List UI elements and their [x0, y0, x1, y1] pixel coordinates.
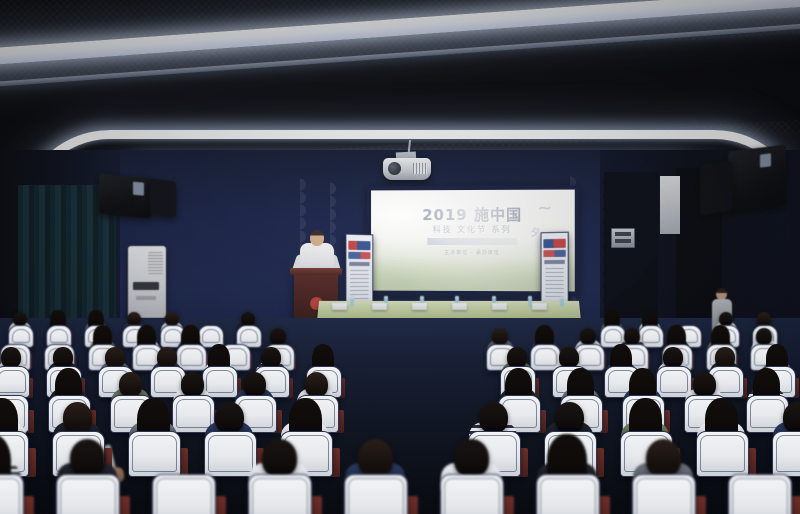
name-card [492, 303, 507, 310]
auditorium-seat[interactable] [536, 474, 600, 514]
auditorium-seat[interactable] [0, 474, 24, 514]
water-bottle [560, 296, 564, 307]
attendee-head [507, 347, 526, 368]
podium-top [290, 268, 342, 275]
attendee-head [53, 347, 72, 368]
attendee-head [757, 312, 771, 327]
speaker-badge [760, 153, 771, 167]
attendee-head [181, 372, 204, 397]
banner-headline [348, 241, 370, 250]
water-bottle [350, 296, 354, 307]
right-wall-speaker [728, 144, 786, 211]
attendee-head [243, 372, 266, 397]
auditorium-photo: 2019 施中国 科技 文化节 系列 主办单位 · 承办单位 ~ 夕 [0, 0, 800, 514]
attendee-head [580, 328, 596, 345]
slide-decoration-2: 夕 [530, 224, 540, 239]
auditorium-seat[interactable] [128, 431, 181, 477]
auditorium-seat[interactable] [204, 431, 257, 477]
attendee-head [663, 347, 682, 368]
projector-lens-icon [388, 162, 401, 175]
attendee-head [693, 372, 716, 397]
attendee-head [261, 347, 280, 368]
attendee-head [783, 402, 800, 433]
attendee-head [241, 312, 255, 327]
slide-decoration-1: ~ [537, 198, 552, 219]
attendee-head [1, 347, 20, 368]
auditorium-seat[interactable] [632, 474, 696, 514]
ac-display [133, 282, 159, 290]
banner-subheadline [543, 250, 565, 257]
attendee-head [358, 439, 393, 477]
attendee-head [479, 402, 508, 433]
auditorium-seat[interactable] [344, 474, 408, 514]
name-card [412, 303, 427, 310]
left-wall-speaker [99, 174, 151, 219]
auditorium-seat[interactable] [728, 474, 792, 514]
side-door[interactable] [660, 176, 680, 234]
attendee-head [63, 402, 92, 433]
left-wall-speaker-secondary [150, 178, 176, 218]
attendee-head [262, 439, 297, 477]
attendee-head [165, 312, 179, 327]
ac-logo [136, 296, 156, 300]
attendee-head [624, 328, 640, 345]
ac-vent-icon [148, 252, 163, 274]
projector-vent [413, 163, 427, 174]
banner-headline [543, 239, 565, 248]
name-card [532, 303, 547, 310]
attendee-head [559, 347, 578, 368]
attendee-head [215, 402, 244, 433]
auditorium-seat[interactable] [152, 474, 216, 514]
attendee-head [454, 439, 489, 477]
right-wall-speaker-secondary [700, 160, 732, 215]
auditorium-seat[interactable] [248, 474, 312, 514]
slide-title-band [427, 238, 517, 245]
attendee-head [157, 347, 176, 368]
air-conditioner-unit [128, 246, 166, 318]
banner-bar [544, 260, 564, 264]
wall-control-panel[interactable] [611, 228, 635, 248]
attendee-head [119, 372, 142, 397]
auditorium-seat[interactable] [56, 474, 120, 514]
attendee-head [646, 439, 681, 477]
attendee-head [127, 312, 141, 327]
banner-subheadline [348, 252, 370, 259]
ceiling-projector [383, 158, 431, 180]
auditorium-seat[interactable] [696, 431, 749, 477]
auditorium-seat[interactable] [440, 474, 504, 514]
presenter-head [310, 230, 324, 246]
banner-bar [349, 262, 369, 266]
attendee-head [305, 372, 328, 397]
attendee-head [719, 312, 733, 327]
auditorium-seat[interactable] [772, 431, 800, 477]
name-card [332, 303, 347, 310]
name-card [452, 303, 467, 310]
attendee-head [270, 328, 286, 345]
attendee-head [105, 347, 124, 368]
attendee-head [70, 439, 105, 477]
attendee-head [756, 328, 772, 345]
name-card [372, 303, 387, 310]
attendee-head [715, 347, 734, 368]
attendee-head [492, 328, 508, 345]
auditorium-seat[interactable] [0, 366, 30, 398]
attendee-head [555, 402, 584, 433]
attendee-head [13, 312, 27, 327]
speaker-badge [133, 182, 144, 196]
